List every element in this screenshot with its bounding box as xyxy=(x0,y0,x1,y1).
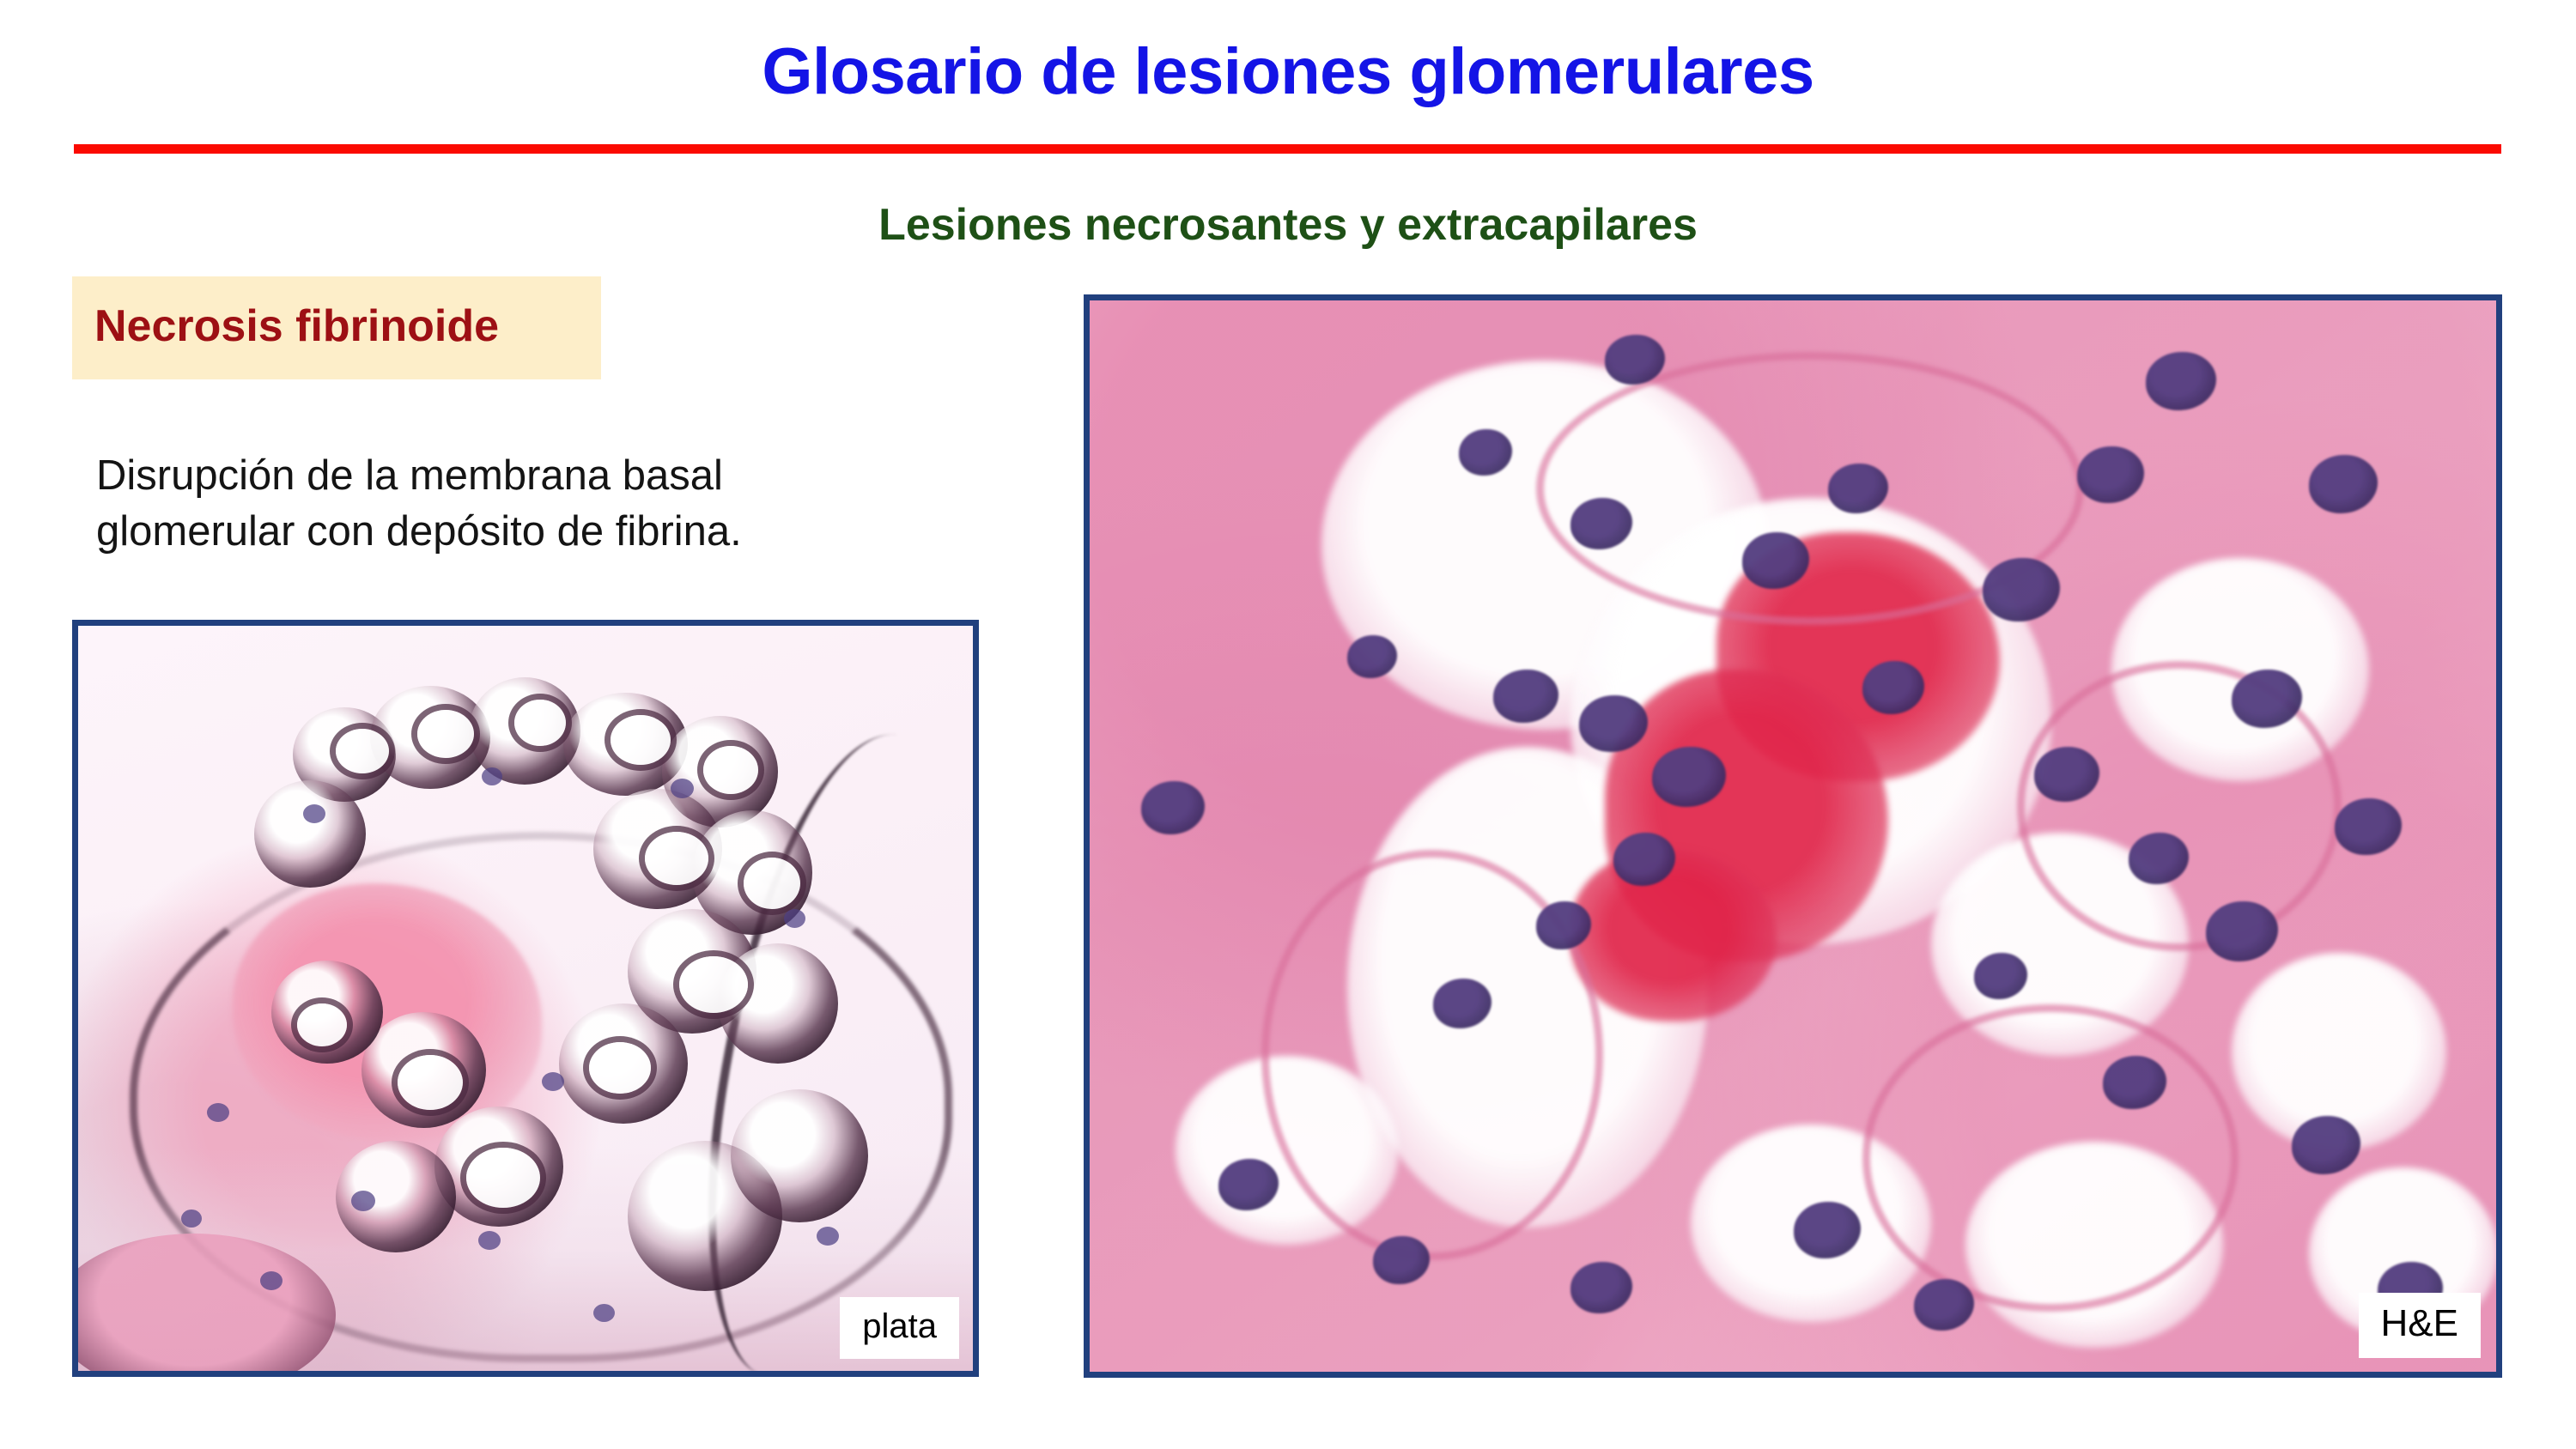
cell-nucleus xyxy=(2309,455,2378,513)
capillary-lumen xyxy=(336,729,389,773)
cell-nucleus xyxy=(1571,1262,1632,1313)
stain-label-silver: plata xyxy=(840,1297,959,1359)
capillary-lumen xyxy=(679,956,748,1013)
title-divider-rule xyxy=(74,144,2501,154)
capillary-lumen xyxy=(744,858,800,909)
cell-nucleus xyxy=(351,1191,375,1211)
cell-nucleus xyxy=(303,804,325,823)
cell-nucleus xyxy=(2077,446,2144,503)
fibrinoid-necrosis-region xyxy=(1571,850,1777,1022)
capillary-lumen xyxy=(645,832,708,885)
lesion-heading: Necrosis fibrinoide xyxy=(94,300,499,352)
capillary-lumen xyxy=(417,710,474,758)
cell-nucleus xyxy=(181,1210,202,1228)
section-subtitle: Lesiones necrosantes y extracapilares xyxy=(0,199,2576,251)
cell-nucleus xyxy=(207,1103,229,1122)
capillary-lumen xyxy=(514,700,566,746)
cell-nucleus xyxy=(1141,781,1205,834)
micrograph-he-stain[interactable]: H&E xyxy=(1084,294,2502,1378)
capillary-lumen xyxy=(297,1003,347,1046)
page-title: Glosario de lesiones glomerulares xyxy=(0,34,2576,109)
he-stain-tissue xyxy=(1090,300,2496,1372)
cell-nucleus xyxy=(260,1271,283,1290)
capillary-lumen xyxy=(398,1055,463,1110)
capillary-lumen xyxy=(703,746,758,794)
cell-nucleus xyxy=(671,779,694,798)
cell-nucleus xyxy=(482,767,502,785)
stain-label-he: H&E xyxy=(2359,1293,2481,1358)
lesion-description: Disrupción de la membrana basal glomerul… xyxy=(96,448,920,559)
cell-nucleus xyxy=(2292,1116,2360,1174)
cell-nucleus xyxy=(1373,1236,1430,1284)
cell-nucleus xyxy=(817,1227,839,1246)
cell-nucleus xyxy=(478,1231,501,1250)
cell-nucleus xyxy=(784,909,805,928)
gbm-mesh-unit xyxy=(731,1089,868,1222)
capillary-lumen xyxy=(611,715,671,765)
cell-nucleus xyxy=(2335,798,2402,855)
gbm-mesh-unit xyxy=(254,780,366,888)
cell-nucleus xyxy=(2146,352,2216,410)
cell-nucleus xyxy=(593,1304,615,1322)
cell-nucleus xyxy=(1914,1279,1974,1331)
cell-nucleus xyxy=(2206,901,2278,961)
cell-nucleus xyxy=(1983,558,2060,621)
capillary-lumen xyxy=(466,1148,540,1208)
capillary-lumen xyxy=(589,1042,651,1094)
silver-stain-tissue xyxy=(78,626,973,1371)
cell-nucleus xyxy=(542,1072,564,1091)
capillary-wall-strand xyxy=(1862,1004,2239,1312)
micrograph-silver-stain[interactable]: plata xyxy=(72,620,979,1377)
